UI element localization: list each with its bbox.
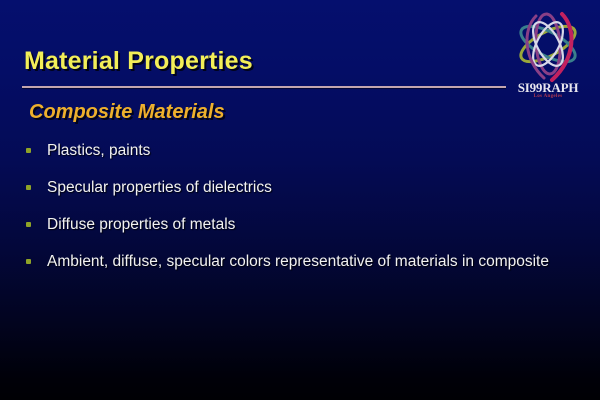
bullet-square-icon — [26, 259, 31, 264]
list-item: Specular properties of dielectrics — [26, 177, 582, 199]
list-item-label: Diffuse properties of metals — [47, 214, 582, 236]
interlocking-rings-icon — [500, 8, 596, 88]
logo-sublabel: Los Angeles — [500, 94, 596, 99]
list-item-label: Ambient, diffuse, specular colors repres… — [47, 251, 582, 273]
slide-title: Material Properties — [24, 47, 253, 76]
bullet-list: Plastics, paints Specular properties of … — [26, 140, 582, 288]
list-item: Ambient, diffuse, specular colors repres… — [26, 251, 582, 273]
list-item-label: Plastics, paints — [47, 140, 582, 162]
bullet-square-icon — [26, 185, 31, 190]
bullet-square-icon — [26, 148, 31, 153]
list-item: Diffuse properties of metals — [26, 214, 582, 236]
list-item: Plastics, paints — [26, 140, 582, 162]
title-divider-rule — [22, 86, 506, 88]
slide-subtitle: Composite Materials — [29, 101, 225, 124]
bullet-square-icon — [26, 222, 31, 227]
siggraph-logo: SI99RAPH Los Angeles — [500, 8, 596, 104]
slide-canvas: Material Properties Composite Materials … — [0, 0, 600, 400]
list-item-label: Specular properties of dielectrics — [47, 177, 582, 199]
